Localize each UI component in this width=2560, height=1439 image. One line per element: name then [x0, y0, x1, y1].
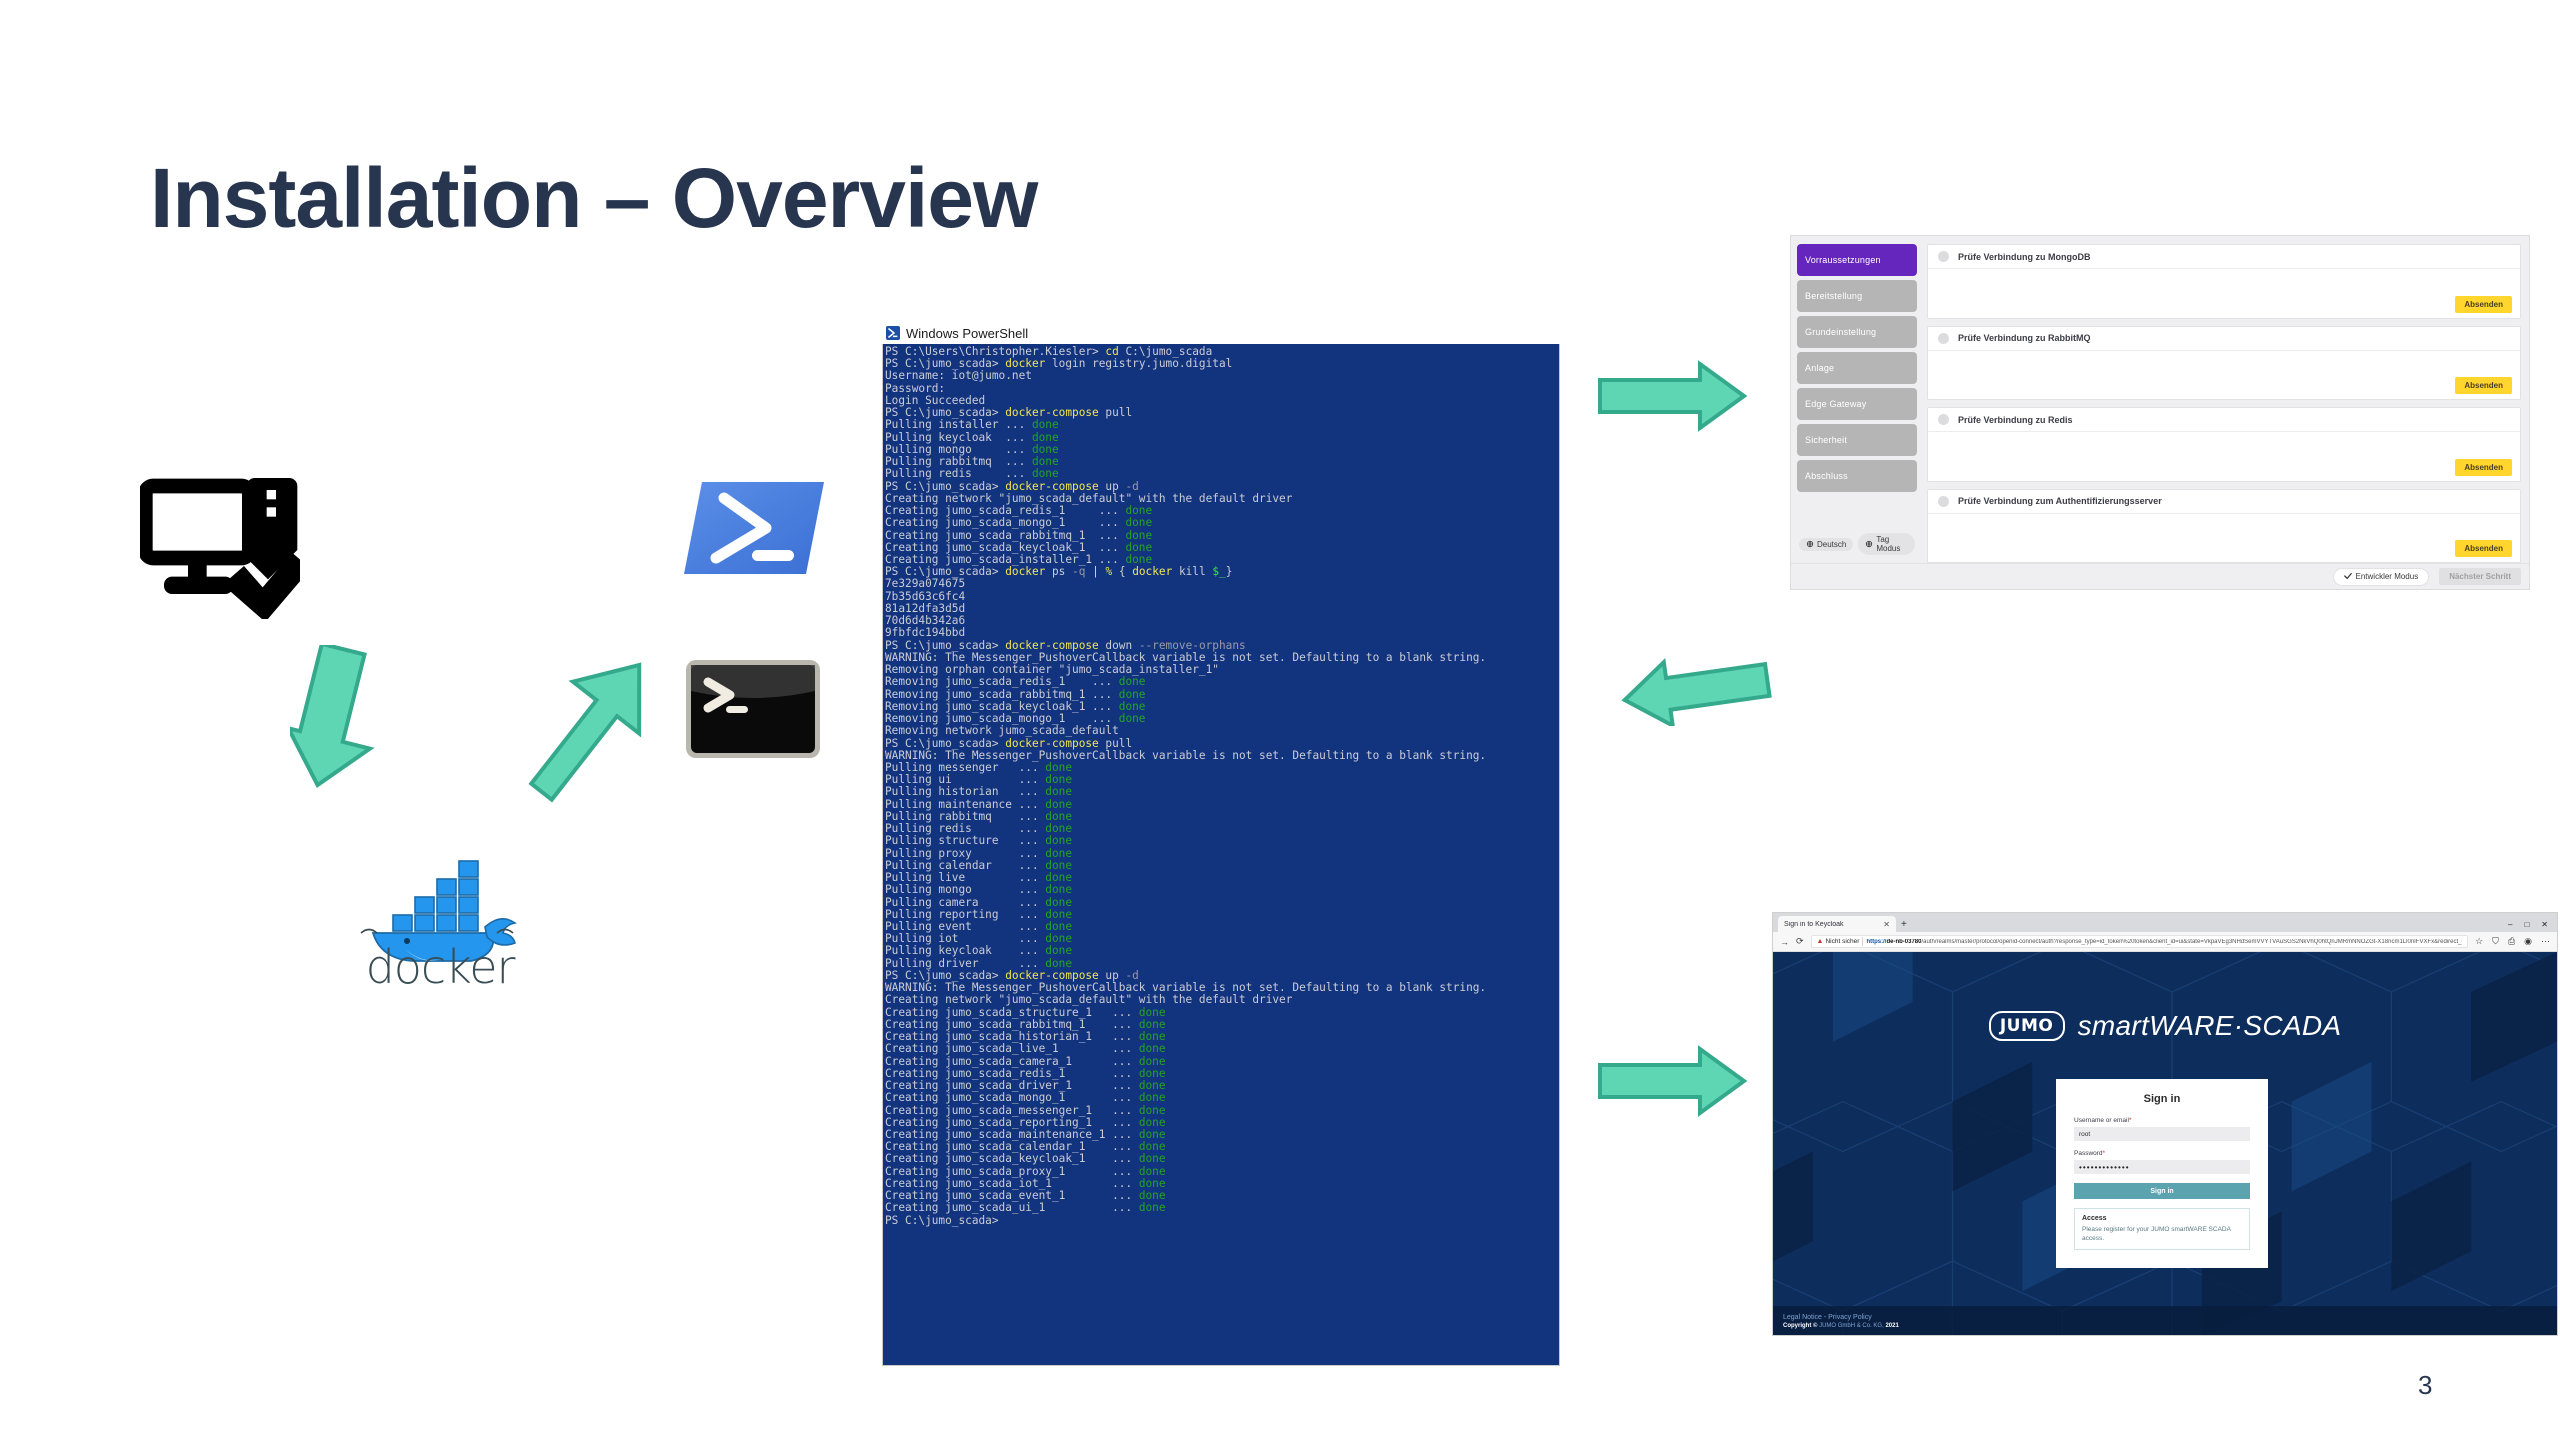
sign-in-button[interactable]: Sign in — [2074, 1183, 2250, 1199]
powershell-window-icon — [886, 326, 900, 340]
globe-icon — [1806, 540, 1814, 548]
url-scheme: https:// — [1866, 939, 1886, 945]
check-label: Prüfe Verbindung zu RabbitMQ — [1958, 333, 2091, 343]
copyright-mark: Copyright © — [1783, 1323, 1817, 1329]
language-pill[interactable]: Deutsch — [1799, 538, 1853, 551]
browser-window: Sign in to Keycloak ✕ + – □ ✕ → ⟳ ▲ Nich… — [1772, 912, 2558, 1336]
installer-step-vorraussetzungen[interactable]: Vorraussetzungen — [1797, 244, 1917, 276]
console-line: PS C:\jumo_scada> — [885, 1215, 1559, 1227]
installer-step-label: Sicherheit — [1805, 435, 1847, 445]
maximize-icon[interactable]: □ — [2524, 920, 2529, 929]
close-window-icon[interactable]: ✕ — [2541, 920, 2548, 929]
not-secure-label: Nicht sicher — [1825, 938, 1859, 945]
arrow-console-to-browser — [1596, 1045, 1748, 1117]
installer-step-label: Anlage — [1805, 363, 1834, 373]
footer-links[interactable]: Legal Notice - Privacy Policy — [1783, 1314, 1899, 1321]
sun-icon — [1865, 540, 1873, 548]
browser-tab-bar: Sign in to Keycloak ✕ + – □ ✕ — [1773, 913, 2557, 932]
console-line: 81a12dfa3d5d — [885, 603, 1559, 615]
status-indicator-icon — [1938, 251, 1949, 262]
theme-pill-label: Tag Modus — [1876, 535, 1908, 553]
username-label: Username or email* — [2074, 1117, 2250, 1124]
check-card-header: Prüfe Verbindung zu MongoDB — [1928, 245, 2520, 269]
console-line: Password: — [885, 383, 1559, 395]
address-bar[interactable]: ▲ Nicht sicher https://de-nb-03780/auth/… — [1811, 935, 2469, 948]
installer-wizard-panel: VorraussetzungenBereitstellungGrundeinst… — [1790, 235, 2530, 590]
slide-page-number: 3 — [2418, 1370, 2432, 1401]
installer-step-sidebar: VorraussetzungenBereitstellungGrundeinst… — [1791, 236, 1923, 563]
profile-icon[interactable]: ◉ — [2524, 936, 2532, 947]
installer-step-label: Bereitstellung — [1805, 291, 1862, 301]
installer-step-bereitstellung[interactable]: Bereitstellung — [1797, 280, 1917, 312]
submit-button[interactable]: Absenden — [2455, 296, 2512, 313]
installer-check-list: Prüfe Verbindung zu MongoDBAbsendenPrüfe… — [1923, 236, 2529, 563]
browser-tab[interactable]: Sign in to Keycloak ✕ — [1778, 916, 1896, 932]
check-card-body: Absenden — [1928, 432, 2520, 481]
warning-icon: ▲ — [1817, 938, 1824, 945]
arrow-docker-to-powershell — [520, 640, 660, 810]
url-text: https://de-nb-03780/auth/realms/master/p… — [1866, 939, 2462, 945]
submit-button[interactable]: Absenden — [2455, 540, 2512, 557]
submit-button[interactable]: Absenden — [2455, 459, 2512, 476]
login-heading: Sign in — [2074, 1093, 2250, 1105]
more-icon[interactable]: ⋯ — [2541, 936, 2550, 947]
check-card-header: Prüfe Verbindung zu RabbitMQ — [1928, 327, 2520, 351]
arrow-console-to-installer — [1596, 360, 1748, 432]
access-notice-title: Access — [2082, 1215, 2242, 1222]
terminal-icon — [686, 660, 820, 758]
status-indicator-icon — [1938, 496, 1949, 507]
check-card-body: Absenden — [1928, 351, 2520, 400]
installer-step-label: Vorraussetzungen — [1805, 255, 1881, 265]
minimize-icon[interactable]: – — [2508, 920, 2512, 929]
console-line: Username: iot@jumo.net — [885, 370, 1559, 382]
collections-icon[interactable]: ⛉ — [2492, 936, 2499, 947]
close-icon[interactable]: ✕ — [1883, 920, 1890, 929]
scada-brand: JUMO smartWARE·SCADA — [1773, 1010, 2557, 1042]
login-card: Sign in Username or email* root Password… — [2056, 1079, 2268, 1268]
installer-sidebar-footer: DeutschTag Modus — [1797, 527, 1917, 563]
powershell-titlebar: Windows PowerShell — [882, 322, 1560, 344]
not-secure-badge: ▲ Nicht sicher — [1817, 938, 1860, 945]
submit-button[interactable]: Absenden — [2455, 377, 2512, 394]
url-path: /auth/realms/master/protocol/openid-conn… — [1921, 939, 2462, 945]
back-icon[interactable]: → — [1780, 937, 1789, 947]
installer-step-label: Edge Gateway — [1805, 399, 1866, 409]
reload-icon[interactable]: ⟳ — [1796, 936, 1804, 947]
installer-step-label: Abschluss — [1805, 471, 1848, 481]
share-icon[interactable]: ⎙ — [2508, 936, 2515, 947]
connection-check-card: Prüfe Verbindung zu RedisAbsenden — [1927, 407, 2521, 482]
installer-step-anlage[interactable]: Anlage — [1797, 352, 1917, 384]
check-label: Prüfe Verbindung zu Redis — [1958, 415, 2073, 425]
check-card-body: Absenden — [1928, 269, 2520, 318]
computer-check-icon — [140, 470, 300, 620]
toolbar-actions: ☆ ⛉ ⎙ ◉ ⋯ — [2475, 936, 2550, 947]
check-icon — [2344, 572, 2352, 582]
username-input[interactable]: root — [2074, 1127, 2250, 1141]
copyright-year: 2021 — [1885, 1323, 1898, 1329]
installer-body: VorraussetzungenBereitstellungGrundeinst… — [1791, 236, 2529, 563]
url-host: de-nb-03780 — [1886, 939, 1921, 945]
divider — [1862, 937, 1863, 946]
check-card-header: Prüfe Verbindung zum Authentifizierungss… — [1928, 490, 2520, 514]
password-input[interactable]: ••••••••••••• — [2074, 1160, 2250, 1174]
powershell-title: Windows PowerShell — [906, 326, 1028, 341]
required-marker: * — [2103, 1150, 2106, 1157]
powershell-console-output[interactable]: PS C:\Users\Christopher.Kiesler> cd C:\j… — [882, 344, 1560, 1366]
status-indicator-icon — [1938, 333, 1949, 344]
new-tab-button[interactable]: + — [1901, 919, 1907, 932]
installer-step-grundeinstellung[interactable]: Grundeinstellung — [1797, 316, 1917, 348]
product-wordmark: smartWARE·SCADA — [2078, 1010, 2342, 1042]
favorite-icon[interactable]: ☆ — [2475, 936, 2483, 947]
installer-step-sicherheit[interactable]: Sicherheit — [1797, 424, 1917, 456]
installer-step-label: Grundeinstellung — [1805, 327, 1876, 337]
password-label: Password* — [2074, 1150, 2250, 1157]
developer-mode-label: Entwickler Modus — [2356, 572, 2419, 581]
copyright-company: JUMO GmbH & Co. KG, — [1817, 1323, 1885, 1329]
installer-step-abschluss[interactable]: Abschluss — [1797, 460, 1917, 492]
console-line: 7b35d63c6fc4 — [885, 591, 1559, 603]
status-indicator-icon — [1938, 414, 1949, 425]
check-card-body: Absenden — [1928, 514, 2520, 563]
page-footer: Legal Notice - Privacy Policy Copyright … — [1783, 1314, 1899, 1329]
check-label: Prüfe Verbindung zu MongoDB — [1958, 252, 2091, 262]
connection-check-card: Prüfe Verbindung zum Authentifizierungss… — [1927, 489, 2521, 564]
jumo-logo: JUMO — [1989, 1011, 2065, 1041]
console-line: 7e329a074675 — [885, 578, 1559, 590]
docker-wordmark: docker — [360, 940, 520, 994]
connection-check-card: Prüfe Verbindung zu MongoDBAbsenden — [1927, 244, 2521, 319]
access-notice: Access Please register for your JUMO sma… — [2074, 1208, 2250, 1250]
required-marker: * — [2129, 1117, 2132, 1124]
next-step-button[interactable]: Nächster Schritt — [2439, 568, 2521, 585]
browser-toolbar: → ⟳ ▲ Nicht sicher https://de-nb-03780/a… — [1773, 932, 2557, 952]
console-line: 70d6d4b342a6 — [885, 615, 1559, 627]
console-line: PS C:\jumo_scada> docker ps -q | % { doc… — [885, 566, 1559, 578]
scada-login-page: JUMO smartWARE·SCADA Sign in Username or… — [1773, 952, 2557, 1336]
installer-footer: Entwickler Modus Nächster Schritt — [1791, 563, 2529, 589]
page-title: Installation – Overview — [150, 150, 1037, 247]
access-notice-text: Please register for your JUMO smartWARE … — [2082, 1225, 2242, 1243]
developer-mode-button[interactable]: Entwickler Modus — [2333, 568, 2430, 586]
footer-copyright: Copyright © JUMO GmbH & Co. KG, 2021 — [1783, 1323, 1899, 1329]
arrow-pc-to-docker — [290, 645, 395, 795]
theme-pill[interactable]: Tag Modus — [1858, 533, 1915, 555]
check-card-header: Prüfe Verbindung zu Redis — [1928, 408, 2520, 432]
powershell-icon — [680, 478, 828, 578]
connection-check-card: Prüfe Verbindung zu RabbitMQAbsenden — [1927, 326, 2521, 401]
language-pill-label: Deutsch — [1817, 540, 1846, 549]
window-controls: – □ ✕ — [2508, 920, 2557, 932]
installer-step-edge-gateway[interactable]: Edge Gateway — [1797, 388, 1917, 420]
powershell-window: Windows PowerShell PS C:\Users\Christoph… — [882, 322, 1560, 1368]
check-label: Prüfe Verbindung zum Authentifizierungss… — [1958, 496, 2162, 506]
browser-tab-title: Sign in to Keycloak — [1784, 921, 1879, 928]
arrow-installer-to-console — [1620, 650, 1772, 726]
